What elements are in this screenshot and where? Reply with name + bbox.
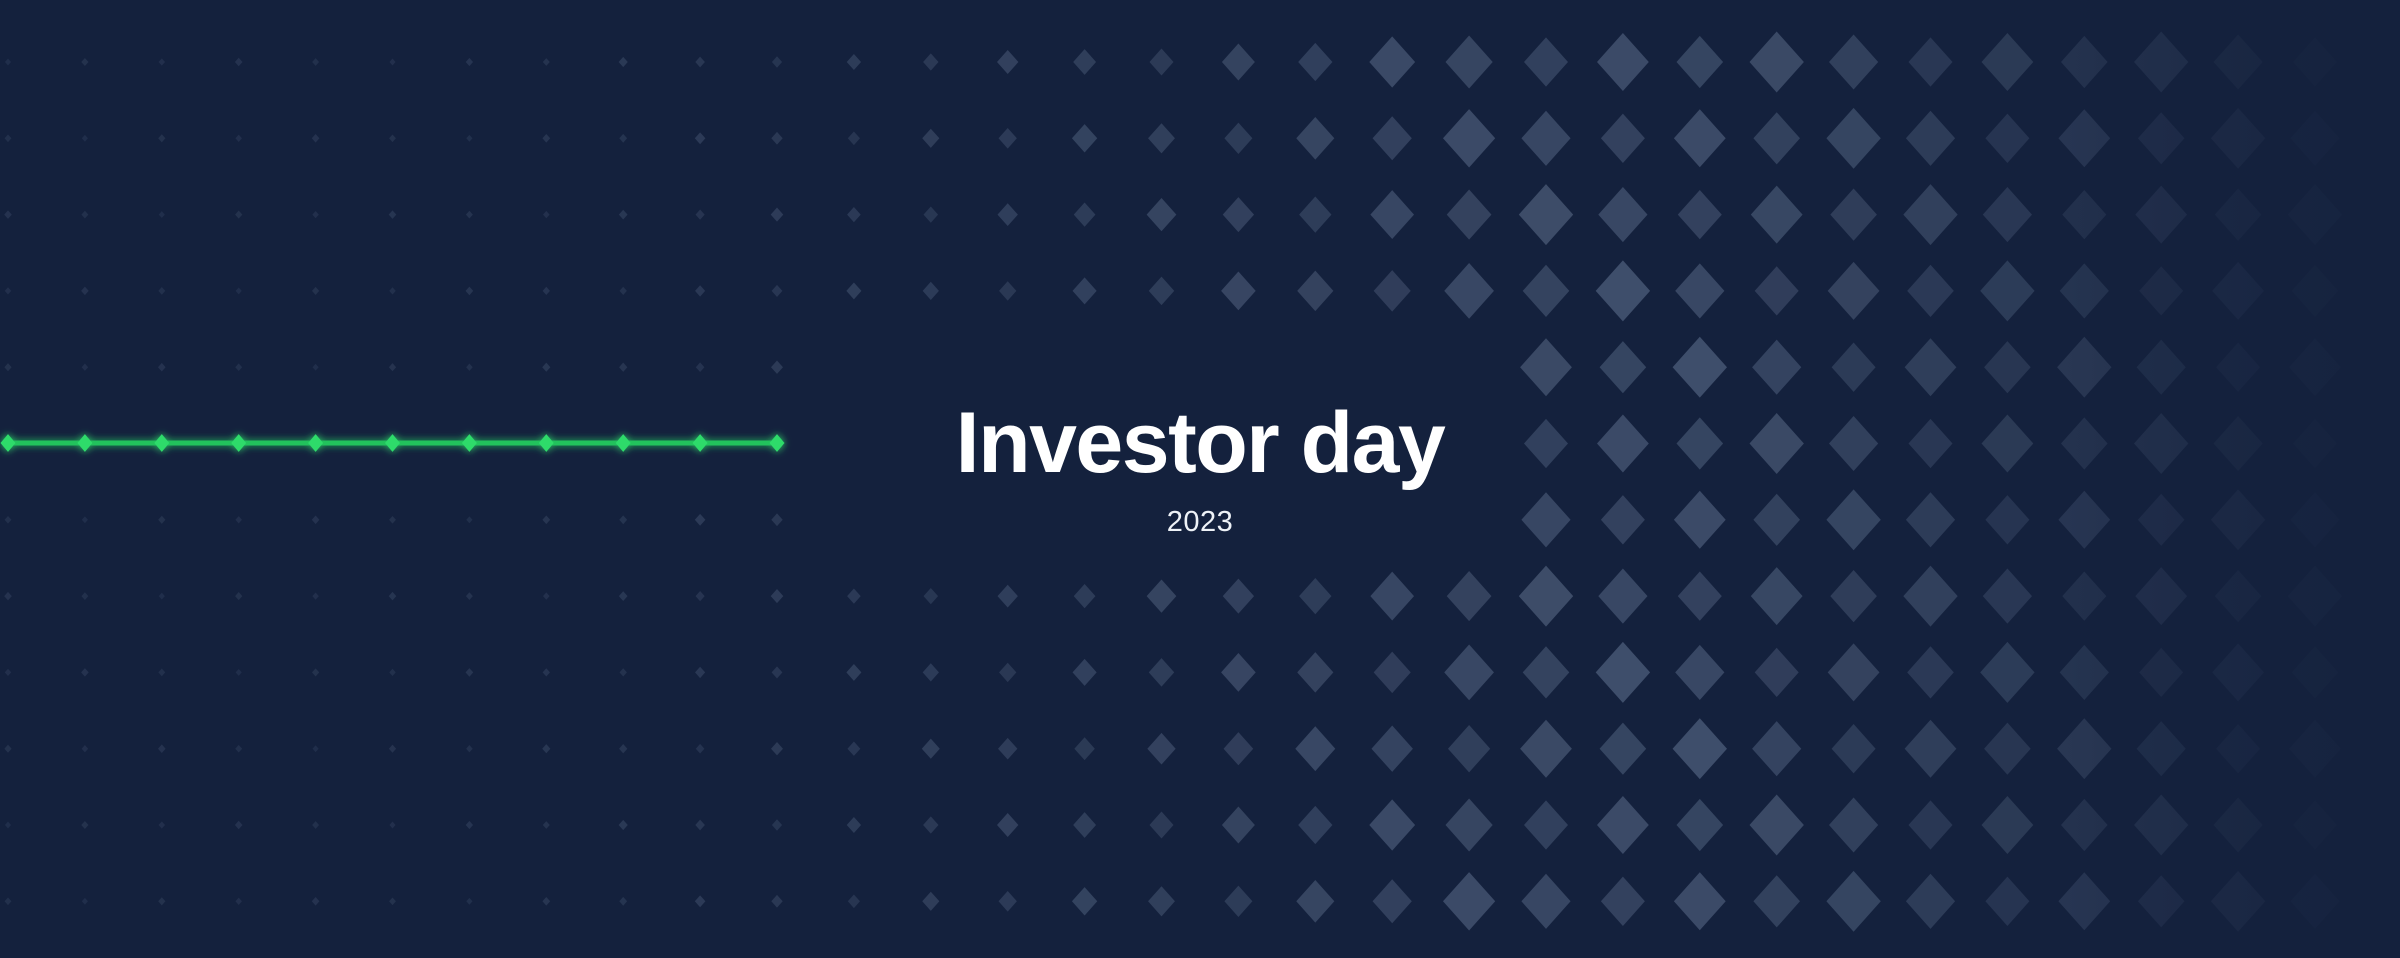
accent-line-marker (385, 434, 400, 452)
accent-line-marker (231, 434, 246, 452)
accent-line-marker (693, 434, 708, 452)
accent-line-marker (462, 434, 477, 452)
accent-line-marker (77, 434, 92, 452)
accent-line-group (1, 434, 785, 452)
accent-line-marker (154, 434, 169, 452)
accent-line-marker (616, 434, 631, 452)
accent-line-marker (770, 434, 785, 452)
page-subtitle-year: 2023 (930, 506, 1470, 539)
title-inner: Investor day 2023 (930, 400, 1470, 539)
hero-banner: Investor day 2023 (0, 0, 2400, 958)
accent-line-marker (1, 434, 16, 452)
accent-line-marker (308, 434, 323, 452)
page-title: Investor day (930, 400, 1470, 486)
accent-line-marker (539, 434, 554, 452)
